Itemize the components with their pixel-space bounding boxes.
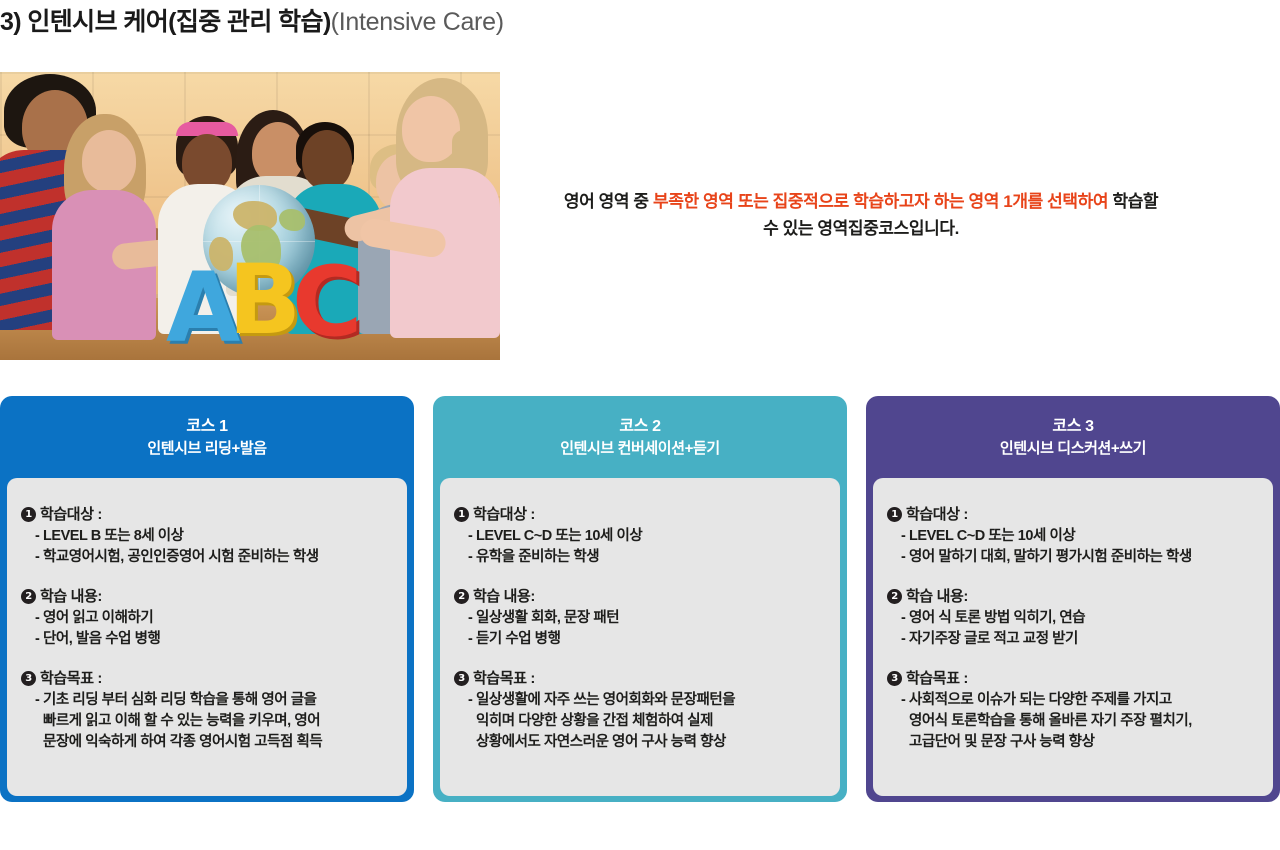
section-heading-text: 학습목표 : <box>40 668 102 690</box>
number-badge-1: 1 <box>887 507 902 522</box>
list-item: - LEVEL B 또는 8세 이상 <box>31 526 393 547</box>
course-1-section-1: 1 학습대상 : - LEVEL B 또는 8세 이상 - 학교영어시험, 공인… <box>21 504 393 568</box>
list-item: - 영어 말하기 대회, 말하기 평가시험 준비하는 학생 <box>897 547 1259 568</box>
section-heading-text: 학습 내용: <box>906 586 968 608</box>
number-badge-3: 3 <box>21 671 36 686</box>
page-title-korean: 3) 인텐시브 케어(집중 관리 학습) <box>0 8 331 36</box>
number-badge-2: 2 <box>887 589 902 604</box>
section-heading-text: 학습 내용: <box>473 586 535 608</box>
course-3-section-3-heading: 3 학습목표 : <box>887 668 1259 690</box>
list-item: - 일상생활에 자주 쓰는 영어회화와 문장패턴을 익히며 다양한 상황을 간접… <box>464 690 826 753</box>
course-1-section-2-heading: 2 학습 내용: <box>21 586 393 608</box>
number-badge-3: 3 <box>887 671 902 686</box>
description-lead: 영어 영역 중 <box>564 192 653 211</box>
course-card-2-body: 1 학습대상 : - LEVEL C~D 또는 10세 이상 - 유학을 준비하… <box>440 478 840 796</box>
course-card-1-body: 1 학습대상 : - LEVEL B 또는 8세 이상 - 학교영어시험, 공인… <box>7 478 407 796</box>
course-1-section-2: 2 학습 내용: - 영어 읽고 이해하기 - 단어, 발음 수업 병행 <box>21 586 393 650</box>
course-card-2-header: 코스 2 인텐시브 컨버세이션+듣기 <box>433 396 847 478</box>
course-2-section-2-lines: - 일상생활 회화, 문장 패턴 - 듣기 수업 병행 <box>454 608 826 650</box>
section-heading-text: 학습목표 : <box>906 668 968 690</box>
list-item: - 영어 읽고 이해하기 <box>31 608 393 629</box>
list-item: - 사회적으로 이슈가 되는 다양한 주제를 가지고 영어식 토론학습을 통해 … <box>897 690 1259 753</box>
course-description: 영어 영역 중 부족한 영역 또는 집중적으로 학습하고자 하는 영역 1개를 … <box>556 188 1166 242</box>
course-2-section-3-lines: - 일상생활에 자주 쓰는 영어회화와 문장패턴을 익히며 다양한 상황을 간접… <box>454 690 826 753</box>
course-card-1-header: 코스 1 인텐시브 리딩+발음 <box>0 396 414 478</box>
list-item: - 유학을 준비하는 학생 <box>464 547 826 568</box>
course-2-section-3: 3 학습목표 : - 일상생활에 자주 쓰는 영어회화와 문장패턴을 익히며 다… <box>454 668 826 753</box>
children-around-globe-photo: A B C <box>0 72 500 360</box>
course-3-section-3-lines: - 사회적으로 이슈가 되는 다양한 주제를 가지고 영어식 토론학습을 통해 … <box>887 690 1259 753</box>
number-badge-1: 1 <box>21 507 36 522</box>
letter-c: C <box>292 254 362 350</box>
course-1-section-1-lines: - LEVEL B 또는 8세 이상 - 학교영어시험, 공인인증영어 시험 준… <box>21 526 393 568</box>
course-card-3-header: 코스 3 인텐시브 디스커션+쓰기 <box>866 396 1280 478</box>
course-1-section-3-lines: - 기초 리딩 부터 심화 리딩 학습을 통해 영어 글을 빠르게 읽고 이해 … <box>21 690 393 753</box>
section-heading-text: 학습대상 : <box>40 504 102 526</box>
course-card-3[interactable]: 코스 3 인텐시브 디스커션+쓰기 1 학습대상 : - LEVEL C~D 또… <box>866 396 1280 802</box>
section-heading-text: 학습대상 : <box>473 504 535 526</box>
course-1-section-1-heading: 1 학습대상 : <box>21 504 393 526</box>
number-badge-2: 2 <box>454 589 469 604</box>
list-item: - 일상생활 회화, 문장 패턴 <box>464 608 826 629</box>
course-2-section-1-heading: 1 학습대상 : <box>454 504 826 526</box>
course-card-3-subtitle: 인텐시브 디스커션+쓰기 <box>1000 438 1146 460</box>
section-heading-text: 학습목표 : <box>473 668 535 690</box>
course-card-list: 코스 1 인텐시브 리딩+발음 1 학습대상 : - LEVEL B 또는 8세… <box>0 396 1280 802</box>
list-item: - 영어 식 토론 방법 익히기, 연습 <box>897 608 1259 629</box>
course-3-section-3: 3 학습목표 : - 사회적으로 이슈가 되는 다양한 주제를 가지고 영어식 … <box>887 668 1259 753</box>
course-card-3-title: 코스 3 <box>1052 415 1093 438</box>
course-2-section-2-heading: 2 학습 내용: <box>454 586 826 608</box>
course-3-section-2-lines: - 영어 식 토론 방법 익히기, 연습 - 자기주장 글로 적고 교정 받기 <box>887 608 1259 650</box>
course-card-2[interactable]: 코스 2 인텐시브 컨버세이션+듣기 1 학습대상 : - LEVEL C~D … <box>433 396 847 802</box>
page-title-english: (Intensive Care) <box>331 8 504 36</box>
course-3-section-1: 1 학습대상 : - LEVEL C~D 또는 10세 이상 - 영어 말하기 … <box>887 504 1259 568</box>
number-badge-3: 3 <box>454 671 469 686</box>
page-title: 3) 인텐시브 케어(집중 관리 학습)(Intensive Care) <box>0 2 1280 42</box>
section-heading-text: 학습 내용: <box>40 586 102 608</box>
list-item: - 기초 리딩 부터 심화 리딩 학습을 통해 영어 글을 빠르게 읽고 이해 … <box>31 690 393 753</box>
course-2-section-2: 2 학습 내용: - 일상생활 회화, 문장 패턴 - 듣기 수업 병행 <box>454 586 826 650</box>
course-card-2-subtitle: 인텐시브 컨버세이션+듣기 <box>560 438 720 460</box>
number-badge-1: 1 <box>454 507 469 522</box>
course-1-section-2-lines: - 영어 읽고 이해하기 - 단어, 발음 수업 병행 <box>21 608 393 650</box>
description-highlight: 부족한 영역 또는 집중적으로 학습하고자 하는 영역 1개를 선택하여 <box>653 192 1108 211</box>
list-item: - 학교영어시험, 공인인증영어 시험 준비하는 학생 <box>31 547 393 568</box>
letter-b: B <box>228 252 301 348</box>
number-badge-2: 2 <box>21 589 36 604</box>
course-card-1[interactable]: 코스 1 인텐시브 리딩+발음 1 학습대상 : - LEVEL B 또는 8세… <box>0 396 414 802</box>
course-3-section-1-heading: 1 학습대상 : <box>887 504 1259 526</box>
course-1-section-3: 3 학습목표 : - 기초 리딩 부터 심화 리딩 학습을 통해 영어 글을 빠… <box>21 668 393 753</box>
list-item: - LEVEL C~D 또는 10세 이상 <box>897 526 1259 547</box>
course-3-section-1-lines: - LEVEL C~D 또는 10세 이상 - 영어 말하기 대회, 말하기 평… <box>887 526 1259 568</box>
list-item: - 듣기 수업 병행 <box>464 629 826 650</box>
list-item: - LEVEL C~D 또는 10세 이상 <box>464 526 826 547</box>
section-heading-text: 학습대상 : <box>906 504 968 526</box>
list-item: - 자기주장 글로 적고 교정 받기 <box>897 629 1259 650</box>
course-card-2-title: 코스 2 <box>619 415 660 438</box>
course-1-section-3-heading: 3 학습목표 : <box>21 668 393 690</box>
course-2-section-3-heading: 3 학습목표 : <box>454 668 826 690</box>
course-2-section-1: 1 학습대상 : - LEVEL C~D 또는 10세 이상 - 유학을 준비하… <box>454 504 826 568</box>
course-card-1-subtitle: 인텐시브 리딩+발음 <box>147 438 266 460</box>
course-3-section-2-heading: 2 학습 내용: <box>887 586 1259 608</box>
course-3-section-2: 2 학습 내용: - 영어 식 토론 방법 익히기, 연습 - 자기주장 글로 … <box>887 586 1259 650</box>
course-2-section-1-lines: - LEVEL C~D 또는 10세 이상 - 유학을 준비하는 학생 <box>454 526 826 568</box>
course-card-3-body: 1 학습대상 : - LEVEL C~D 또는 10세 이상 - 영어 말하기 … <box>873 478 1273 796</box>
list-item: - 단어, 발음 수업 병행 <box>31 629 393 650</box>
course-card-1-title: 코스 1 <box>186 415 227 438</box>
